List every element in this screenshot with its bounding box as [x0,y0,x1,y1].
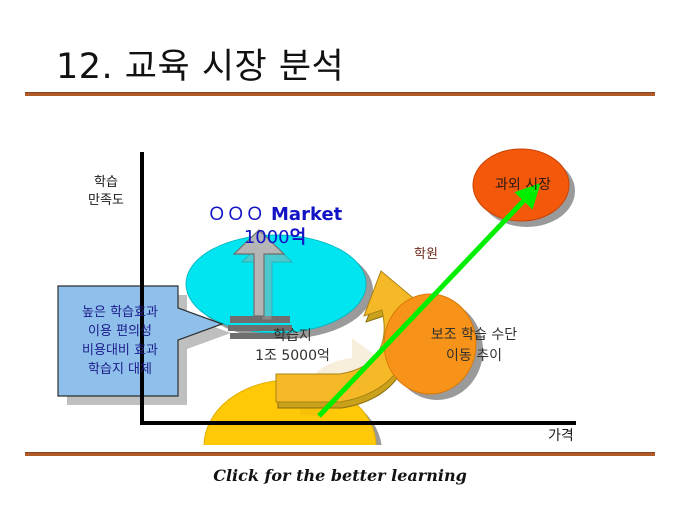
x-axis-label: 가격 [548,425,574,445]
footer-divider [25,452,655,456]
page-title: 12. 교육 시장 분석 [56,38,344,89]
y-axis-label: 학습 만족도 [72,174,140,210]
bubble-tutoring [473,149,569,221]
market-analysis-chart [0,100,680,445]
bubble-academy [384,294,476,394]
slide-canvas: 12. 교육 시장 분석 [0,0,680,510]
title-divider [25,92,655,96]
footer-tagline: Click for the better learning [0,466,680,485]
